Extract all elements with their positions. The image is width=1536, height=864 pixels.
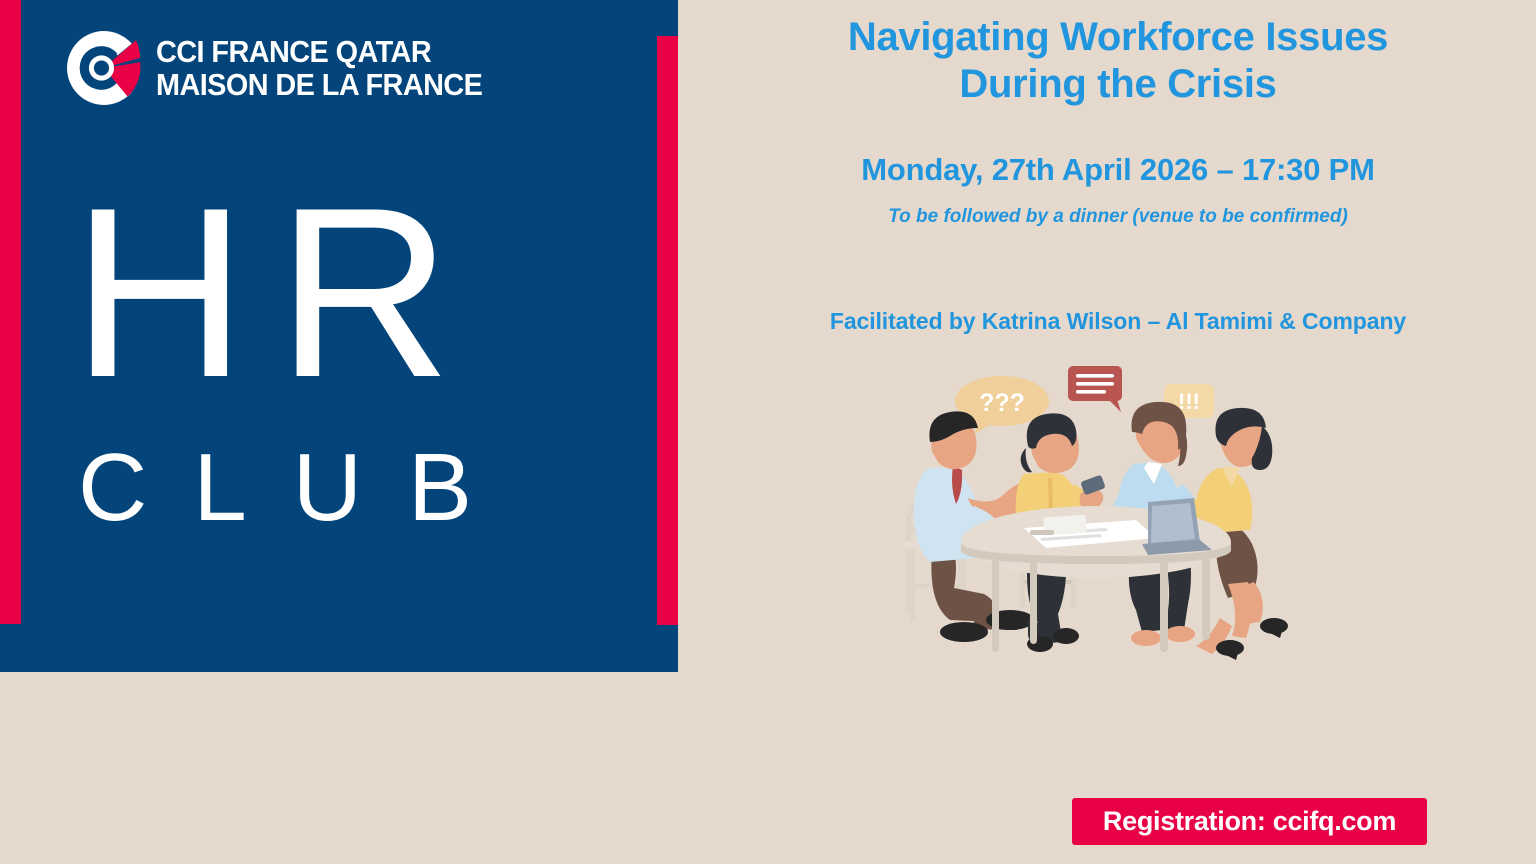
event-title: Navigating Workforce Issues During the C… [700,14,1536,108]
hr-initials: HR [72,172,482,414]
meeting-discussion-illustration: ??? !!! [880,356,1310,676]
event-date: Monday, 27th April 2026 – 17:30 PM [700,152,1536,188]
left-accent-stripe [0,0,21,624]
cci-logo-text: CCI FRANCE QATAR MAISON DE LA FRANCE [156,35,482,102]
event-dinner-note: To be followed by a dinner (venue to be … [700,206,1536,228]
club-word: CLUB [78,440,518,536]
svg-text:???: ??? [979,389,1025,417]
event-title-line-2: During the Crisis [700,61,1536,108]
brand-line-1: CCI FRANCE QATAR [156,35,482,68]
navy-brand-panel: CCI FRANCE QATAR MAISON DE LA FRANCE HR … [0,0,678,672]
statement-bubble [1068,366,1122,412]
cci-circle-logo-icon [62,26,146,110]
event-details-column: Navigating Workforce Issues During the C… [700,0,1536,864]
event-poster: CCI FRANCE QATAR MAISON DE LA FRANCE HR … [0,0,1536,864]
cci-logo: CCI FRANCE QATAR MAISON DE LA FRANCE [62,26,507,110]
brand-line-2: MAISON DE LA FRANCE [156,68,482,101]
registration-button[interactable]: Registration: ccifq.com [1072,798,1427,845]
right-accent-stripe [657,36,678,625]
event-title-line-1: Navigating Workforce Issues [700,14,1536,61]
event-facilitator: Facilitated by Katrina Wilson – Al Tamim… [700,308,1536,335]
